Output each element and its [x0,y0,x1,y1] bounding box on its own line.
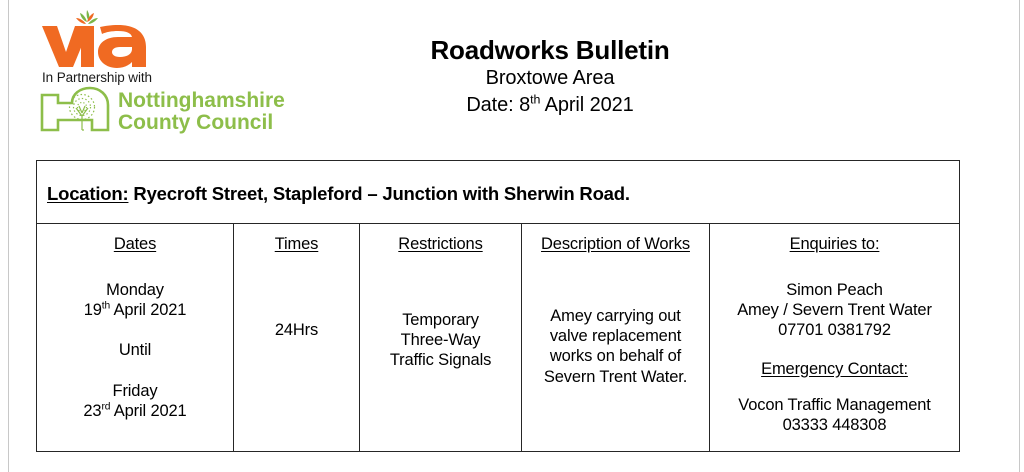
page-subtitle: Broxtowe Area [340,65,760,92]
ncc-emblem-icon [42,88,108,130]
enquiries-spacer-1 [710,341,959,359]
enquiries-spacer-2 [710,379,959,395]
page-date-suffix: April 2021 [540,94,633,116]
emergency-contact-org: Vocon Traffic Management [710,395,959,415]
partnership-text: In Partnership with [42,70,336,85]
description-line-2: valve replacement [522,326,709,346]
column-header-dates: Dates [114,234,156,254]
dates-end-ordinal: rd [101,401,110,412]
document-page: In Partnership with Nottinghamshire [0,0,1024,472]
dates-start-date: 19th April 2021 [37,300,233,320]
branding-logos: In Partnership with Nottinghamshire [36,6,336,134]
dates-start-ordinal: th [102,301,110,312]
column-header-enquiries: Enquiries to: [790,234,880,254]
title-block: Roadworks Bulletin Broxtowe Area Date: 8… [340,36,760,119]
enquiries-contact-phone: 07701 0381792 [710,320,959,340]
page-date: Date: 8th April 2021 [340,92,760,119]
enquiries-contact-org: Amey / Severn Trent Water [710,300,959,320]
description-content: Amey carrying out valve replacement work… [522,306,709,387]
dates-start-day: Monday [37,280,233,300]
dates-start-number: 19 [84,301,102,319]
location-label: Location: [47,183,128,204]
restrictions-line-2: Three-Way [360,330,521,350]
column-enquiries: Enquiries to: Simon Peach Amey / Severn … [709,223,959,452]
via-leaf-icon [76,10,98,24]
column-restrictions: Restrictions Temporary Three-Way Traffic… [359,223,521,452]
times-content: 24Hrs [234,320,359,340]
column-description-of-works: Description of Works Amey carrying out v… [521,223,709,452]
dates-end-rest: April 2021 [110,402,186,420]
restrictions-line-3: Traffic Signals [360,350,521,370]
location-row: Location: Ryecroft Street, Stapleford – … [37,161,959,223]
dates-start: Monday 19th April 2021 [37,280,233,320]
via-logo [40,6,165,68]
times-value: 24Hrs [234,320,359,340]
dates-spacer-2 [37,361,233,381]
column-header-times: Times [275,234,319,254]
column-header-restrictions: Restrictions [398,234,482,254]
document-header: In Partnership with Nottinghamshire [0,0,1024,150]
column-dates: Dates Monday 19th April 2021 Until Frida… [37,223,233,452]
dates-start-rest: April 2021 [110,301,186,319]
description-line-4: Severn Trent Water. [522,367,709,387]
dates-end-date: 23rd April 2021 [37,401,233,421]
bulletin-table: Location: Ryecroft Street, Stapleford – … [36,160,960,452]
emergency-contact-header: Emergency Contact: [710,359,959,379]
emergency-contact-phone: 03333 448308 [710,415,959,435]
description-line-1: Amey carrying out [522,306,709,326]
restrictions-content: Temporary Three-Way Traffic Signals [360,310,521,370]
column-header-description-of-works: Description of Works [541,234,690,254]
restrictions-line-1: Temporary [360,310,521,330]
bulletin-columns: Dates Monday 19th April 2021 Until Frida… [37,223,959,452]
dates-end-day: Friday [37,381,233,401]
enquiries-contact-name: Simon Peach [710,280,959,300]
page-date-ordinal: th [530,92,540,106]
page-title: Roadworks Bulletin [340,36,760,65]
location-value: Ryecroft Street, Stapleford – Junction w… [133,183,629,204]
council-name-line1: Nottinghamshire [118,89,285,112]
nottinghamshire-county-council-logo: Nottinghamshire County Council [38,86,320,134]
column-times: Times 24Hrs [233,223,359,452]
dates-end-number: 23 [83,402,101,420]
page-date-prefix: Date: 8 [466,94,530,116]
dates-connector: Until [37,340,233,360]
council-name-line2: County Council [118,111,273,134]
enquiries-content: Simon Peach Amey / Severn Trent Water 07… [710,280,959,435]
dates-spacer-1 [37,320,233,340]
dates-content: Monday 19th April 2021 Until Friday 23rd… [37,280,233,421]
dates-end: Friday 23rd April 2021 [37,381,233,421]
description-line-3: works on behalf of [522,346,709,366]
